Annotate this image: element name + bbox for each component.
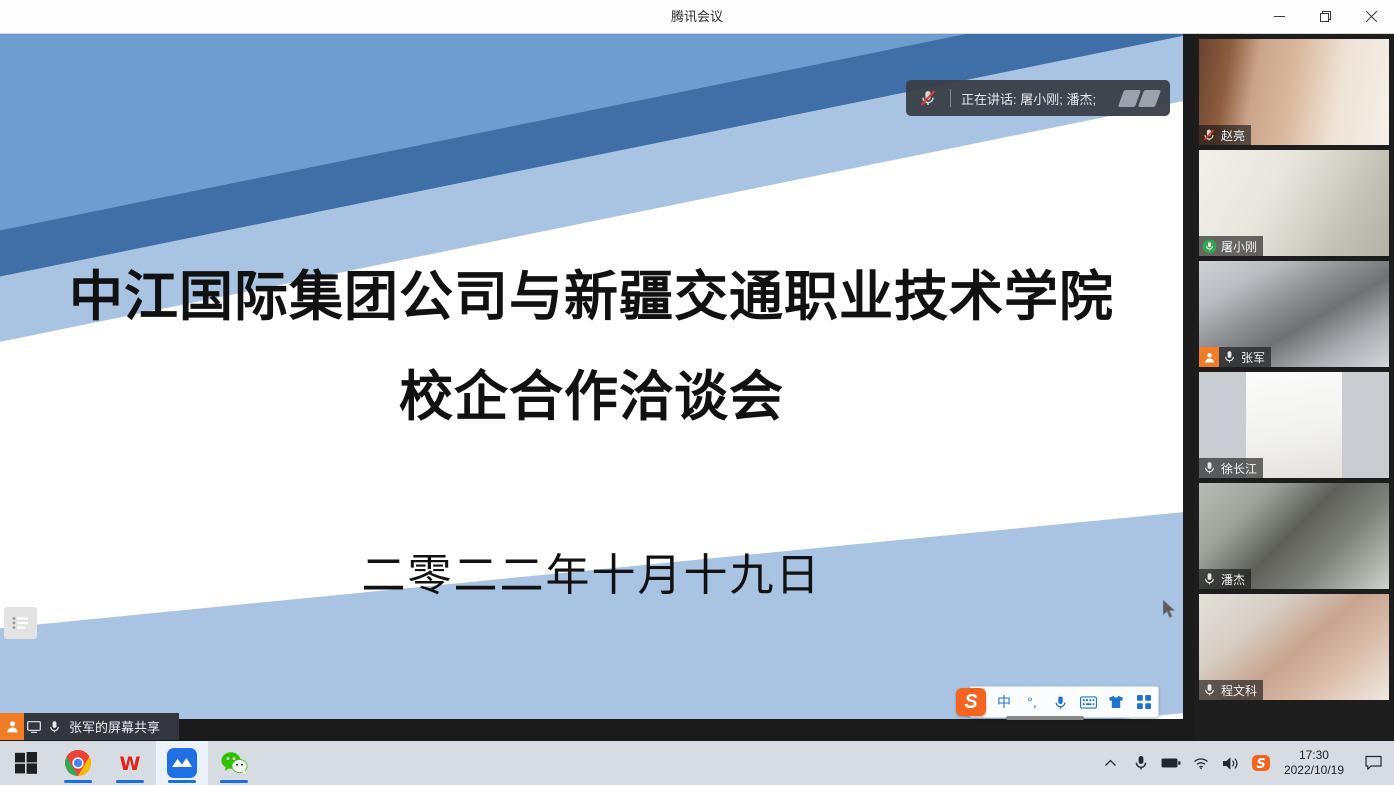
mic-muted-red-icon xyxy=(1199,125,1219,145)
screen-share-icon xyxy=(24,717,44,737)
participant-tile-2[interactable]: 张军 xyxy=(1199,261,1389,367)
participant-name: 潘杰 xyxy=(1219,571,1245,588)
participant-tile-1[interactable]: 屠小刚 xyxy=(1199,150,1389,256)
window-title: 腾讯会议 xyxy=(0,0,1394,33)
windows-taskbar: W xyxy=(0,741,1394,785)
volume-tray-icon[interactable] xyxy=(1216,741,1246,785)
participant-tile-5[interactable]: 程文科 xyxy=(1199,594,1389,700)
meeting-window: 中江国际集团公司与新疆交通职业技术学院 校企合作洽谈会 二零二二年十月十九日 xyxy=(0,34,1394,741)
participant-name: 张军 xyxy=(1239,349,1265,366)
punctuation-icon[interactable]: °, xyxy=(1018,694,1046,710)
participant-tile-0[interactable]: 赵亮 xyxy=(1199,39,1389,145)
app-grid-icon[interactable] xyxy=(1130,695,1158,709)
mic-icon xyxy=(1199,680,1219,700)
participant-name: 程文科 xyxy=(1219,682,1257,699)
presentation-slide: 中江国际集团公司与新疆交通职业技术学院 校企合作洽谈会 二零二二年十月十九日 xyxy=(0,34,1183,719)
speaking-text: 正在讲话: 屠小刚; 潘杰; xyxy=(951,89,1121,108)
chevron-up-icon[interactable] xyxy=(1096,741,1126,785)
mouse-cursor xyxy=(1163,600,1177,620)
system-tray: S 17:30 2022/10/19 xyxy=(1096,741,1394,785)
close-button[interactable] xyxy=(1348,0,1394,33)
host-person-icon xyxy=(1199,347,1219,367)
outline-list-icon[interactable] xyxy=(4,607,37,639)
screen-share-owner-text: 张军的屏幕共享 xyxy=(64,717,160,736)
taskbar-clock[interactable]: 17:30 2022/10/19 xyxy=(1276,748,1356,778)
clock-date: 2022/10/19 xyxy=(1284,763,1344,778)
participant-video-rail[interactable]: 赵亮 屠小刚 张军 xyxy=(1194,34,1394,741)
svg-text:S: S xyxy=(1256,757,1265,772)
battery-tray-icon[interactable] xyxy=(1156,741,1186,785)
shared-screen-area[interactable]: 中江国际集团公司与新疆交通职业技术学院 校企合作洽谈会 二零二二年十月十九日 xyxy=(0,34,1194,741)
participant-name-bar: 潘杰 xyxy=(1199,569,1251,589)
mic-icon xyxy=(1199,569,1219,589)
slide-date: 二零二二年十月十九日 xyxy=(0,539,1183,603)
soft-keyboard-icon[interactable] xyxy=(1074,696,1102,709)
participant-name-bar: 屠小刚 xyxy=(1199,236,1263,256)
host-person-icon xyxy=(0,713,24,740)
start-button[interactable] xyxy=(0,741,52,785)
sogou-ime-toolbar[interactable]: S 中 °, xyxy=(969,686,1159,718)
participant-name-bar: 赵亮 xyxy=(1199,125,1251,145)
notification-bubble-icon[interactable] xyxy=(1356,741,1390,785)
skin-tshirt-icon[interactable] xyxy=(1102,695,1130,709)
participant-name: 屠小刚 xyxy=(1219,238,1257,255)
participant-name-bar: 徐长江 xyxy=(1199,458,1263,478)
mic-active-green-icon xyxy=(1199,236,1219,256)
participant-name: 徐长江 xyxy=(1219,460,1257,477)
speaking-banner: 正在讲话: 屠小刚; 潘杰; xyxy=(906,80,1170,116)
mic-icon xyxy=(1199,458,1219,478)
title-bar: 腾讯会议 xyxy=(0,0,1394,34)
clock-time: 17:30 xyxy=(1284,748,1344,763)
participant-name: 赵亮 xyxy=(1219,127,1245,144)
ime-drag-handle[interactable] xyxy=(1006,716,1084,720)
restore-button[interactable] xyxy=(1302,0,1348,33)
wechat-taskbar-button[interactable] xyxy=(208,741,260,785)
voice-input-icon[interactable] xyxy=(1046,695,1074,710)
audio-wave-icon xyxy=(1121,90,1170,107)
slide-title-line2: 校企合作洽谈会 xyxy=(0,352,1183,431)
participant-tile-3[interactable]: 徐长江 xyxy=(1199,372,1389,478)
mic-tray-icon[interactable] xyxy=(1126,741,1156,785)
mic-muted-red-icon xyxy=(906,80,950,116)
participant-name-bar: 程文科 xyxy=(1199,680,1263,700)
svg-text:W: W xyxy=(120,753,141,775)
sogou-tray-icon[interactable]: S xyxy=(1246,741,1276,785)
tencent-meeting-taskbar-button[interactable] xyxy=(156,741,208,785)
mic-icon xyxy=(1219,347,1239,367)
participant-tile-4[interactable]: 潘杰 xyxy=(1199,483,1389,589)
mic-icon xyxy=(44,717,64,737)
slide-title-line1: 中江国际集团公司与新疆交通职业技术学院 xyxy=(0,252,1183,331)
chrome-taskbar-button[interactable] xyxy=(52,741,104,785)
wifi-tray-icon[interactable] xyxy=(1186,741,1216,785)
sogou-logo-icon[interactable]: S xyxy=(956,688,986,716)
chinese-mode-icon[interactable]: 中 xyxy=(990,692,1018,712)
screen-share-owner-bar: 张军的屏幕共享 xyxy=(0,713,179,740)
wps-taskbar-button[interactable]: W xyxy=(104,741,156,785)
minimize-button[interactable] xyxy=(1256,0,1302,33)
participant-name-bar: 张军 xyxy=(1199,347,1271,367)
window-controls xyxy=(1256,0,1394,33)
